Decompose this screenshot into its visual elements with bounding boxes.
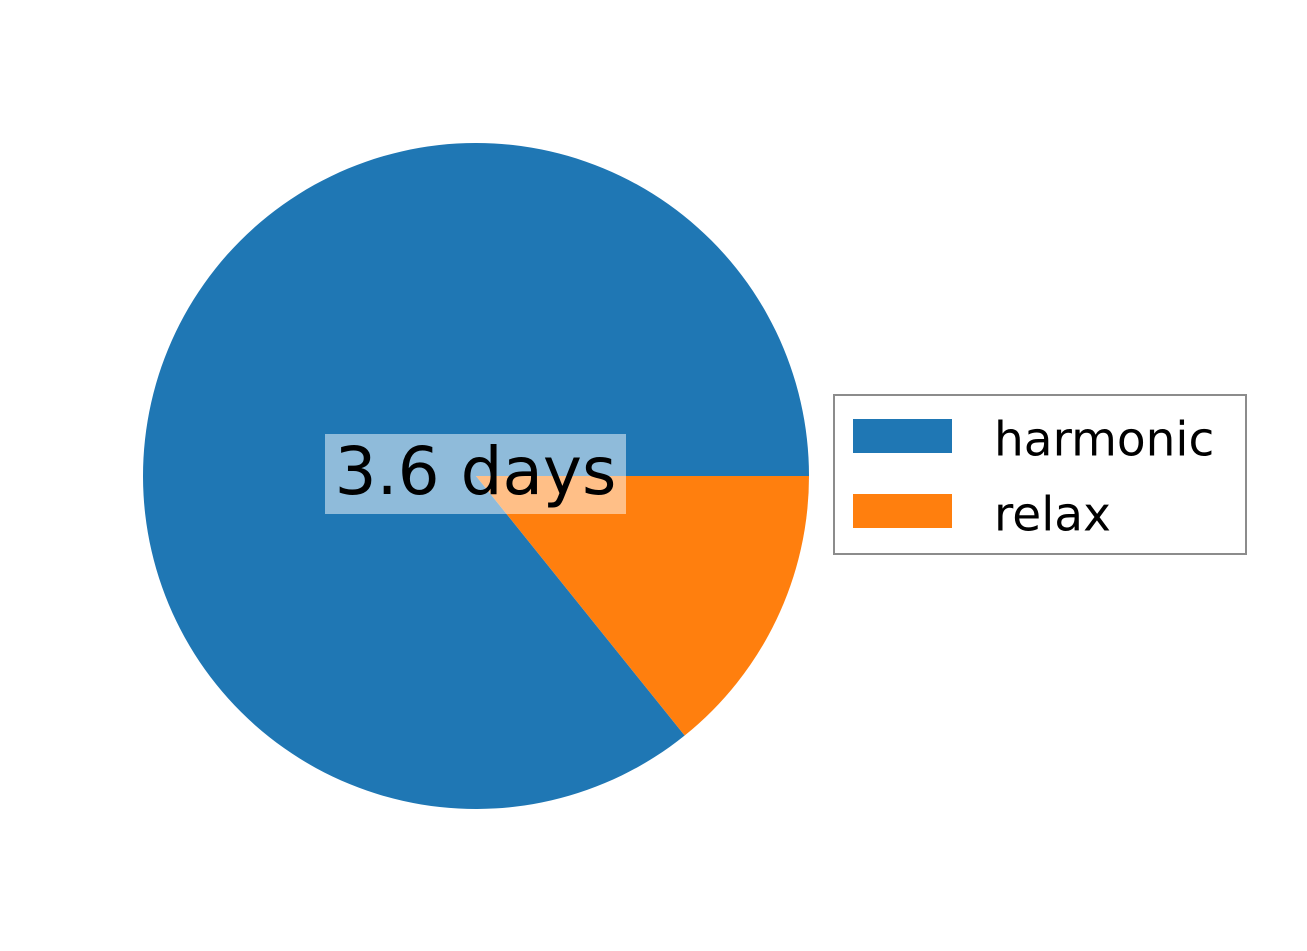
pie-slice-value-label-text: 3.6 days	[335, 439, 617, 505]
legend-entry-relax[interactable]: relax	[835, 485, 1245, 545]
legend-entry-harmonic[interactable]: harmonic	[835, 410, 1245, 470]
legend-label-harmonic: harmonic	[994, 417, 1214, 464]
legend: harmonic relax	[833, 394, 1247, 555]
legend-color-swatch-relax	[853, 494, 952, 528]
figure-canvas: 3.6 days harmonic relax	[0, 0, 1307, 951]
legend-label-relax: relax	[994, 492, 1111, 539]
pie-slice-value-label: 3.6 days	[325, 434, 626, 514]
legend-color-swatch-harmonic	[853, 419, 952, 453]
